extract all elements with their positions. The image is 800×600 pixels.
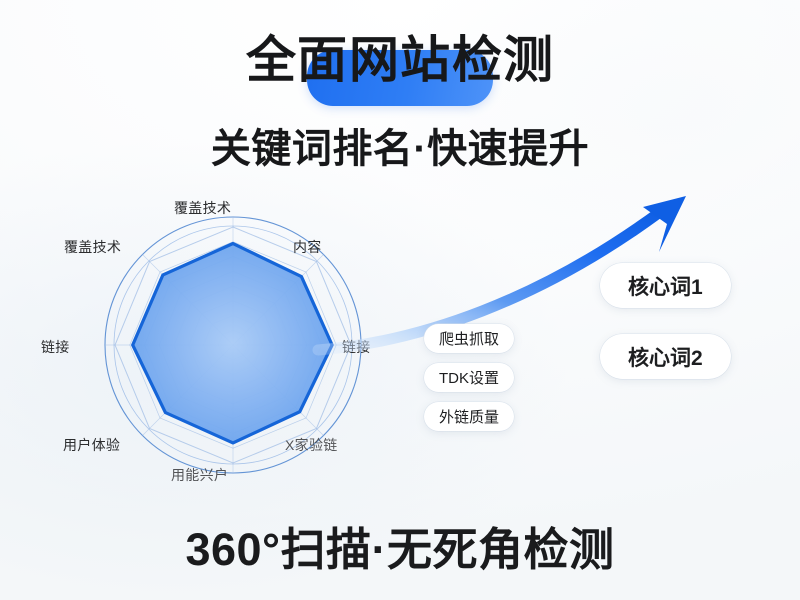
radar-label-top-right: 内容 bbox=[293, 237, 322, 257]
radar-label-top: 覆盖技术 bbox=[174, 198, 231, 218]
headline-container: 全面网站检测 bbox=[0, 34, 800, 87]
radar-chart: 覆盖技术 内容 链接 X家验链 用能兴户 用户体验 链接 覆盖技术 bbox=[28, 190, 428, 510]
radar-data-polygon bbox=[133, 244, 332, 443]
radar-label-bottom: 用能兴户 bbox=[171, 465, 228, 485]
headline-text-after: 检测 bbox=[452, 32, 554, 88]
radar-label-left: 链接 bbox=[41, 337, 70, 357]
pill-tdk[interactable]: TDK设置 bbox=[424, 363, 514, 392]
headline-text-before: 全面 bbox=[246, 32, 348, 88]
radar-label-bottom-left: 用户体验 bbox=[63, 435, 120, 455]
poster-canvas: 全面网站检测 关键词排名·快速提升 覆盖技术 bbox=[0, 0, 800, 600]
arrow-head bbox=[643, 196, 686, 252]
page-title: 全面网站检测 bbox=[246, 34, 554, 87]
footer-headline: 360°扫描·无死角检测 bbox=[185, 513, 614, 578]
subheadline: 关键词排名·快速提升 bbox=[211, 116, 589, 174]
subheadline-container: 关键词排名·快速提升 bbox=[0, 116, 800, 174]
pill-crawler[interactable]: 爬虫抓取 bbox=[424, 324, 514, 353]
pill-keyword-2[interactable]: 核心词2 bbox=[600, 334, 731, 379]
radar-label-right: 链接 bbox=[342, 337, 371, 357]
headline-text-highlight: 网站 bbox=[348, 32, 452, 88]
pill-backlink[interactable]: 外链质量 bbox=[424, 402, 514, 431]
pill-keyword-1[interactable]: 核心词1 bbox=[600, 263, 731, 308]
radar-label-bottom-right: X家验链 bbox=[285, 435, 338, 455]
footer-headline-container: 360°扫描·无死角检测 bbox=[0, 513, 800, 578]
radar-label-top-left: 覆盖技术 bbox=[64, 237, 121, 257]
